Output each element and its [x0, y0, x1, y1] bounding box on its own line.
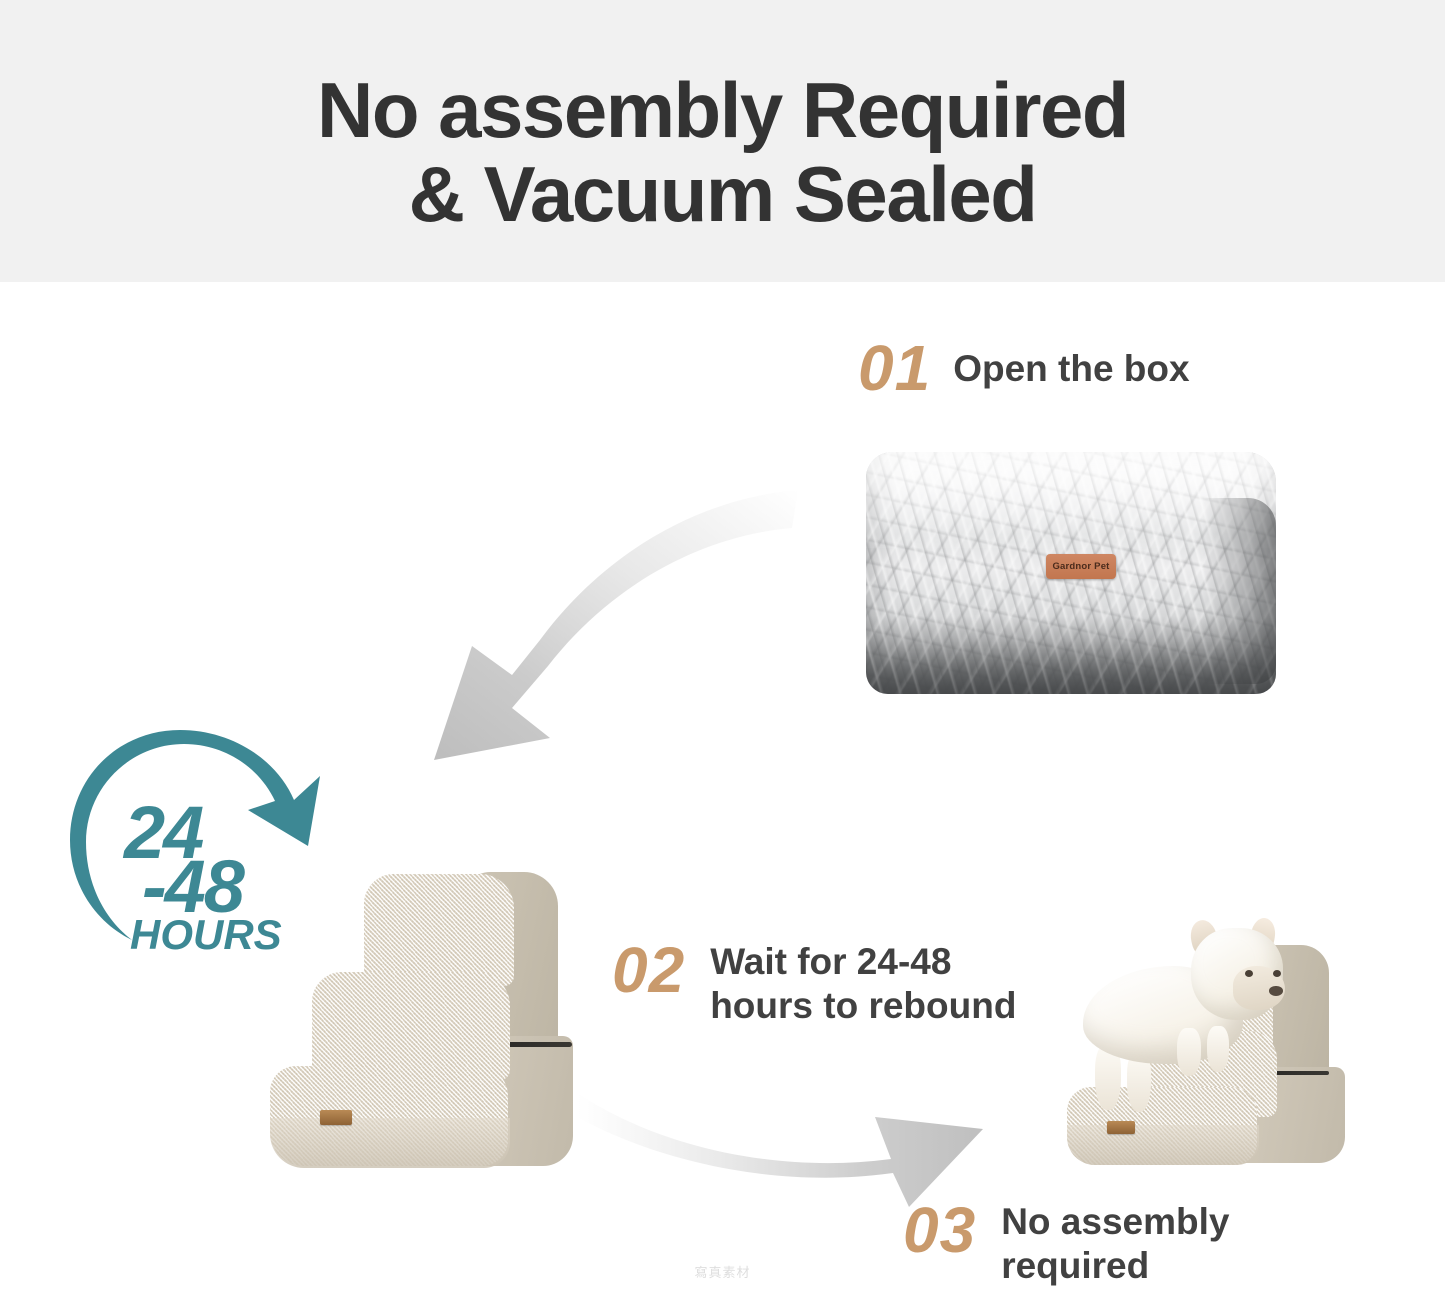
brand-label-tag: Gardnor Pet: [1046, 554, 1116, 579]
page-title: No assembly Required & Vacuum Sealed: [0, 68, 1445, 236]
badge-line-hours: HOURS: [130, 914, 282, 956]
stairs-left-step-1: [364, 874, 514, 986]
dog-leg-front-right: [1207, 1026, 1229, 1072]
step-01-number: 01: [858, 336, 931, 400]
stairs-left-brand-tag: [320, 1110, 352, 1125]
dog-leg-front-left: [1177, 1028, 1201, 1076]
brand-label-text: Gardnor Pet: [1052, 561, 1109, 572]
step-01-text: Open the box: [953, 336, 1189, 391]
pet-stairs-expanded: [268, 868, 598, 1168]
dog-eye-right: [1273, 970, 1281, 977]
step-01-label: 01 Open the box: [858, 336, 1190, 400]
stairs-left-step-2: [312, 972, 510, 1080]
french-bulldog: [1073, 918, 1303, 1138]
vacuum-sealed-package: Gardnor Pet: [866, 452, 1276, 694]
step-03-number: 03: [903, 1198, 976, 1262]
stairs-left-front-face: [270, 1118, 510, 1168]
dog-eye-left: [1245, 970, 1253, 977]
watermark: 寫真素材: [0, 1262, 1445, 1281]
page-title-line-2: & Vacuum Sealed: [0, 152, 1445, 236]
arrow-box-to-stairs-icon: [400, 470, 800, 770]
package-bottom-shadow: [866, 616, 1276, 694]
step-02-label: 02 Wait for 24-48 hours to rebound: [612, 938, 1016, 1028]
header-band: No assembly Required & Vacuum Sealed: [0, 0, 1445, 282]
step-02-text: Wait for 24-48 hours to rebound: [710, 938, 1016, 1028]
page-title-line-1: No assembly Required: [0, 68, 1445, 152]
dog-nose: [1269, 986, 1283, 996]
infographic-page: No assembly Required & Vacuum Sealed 01 …: [0, 0, 1445, 1294]
step-02-number: 02: [612, 938, 685, 1002]
